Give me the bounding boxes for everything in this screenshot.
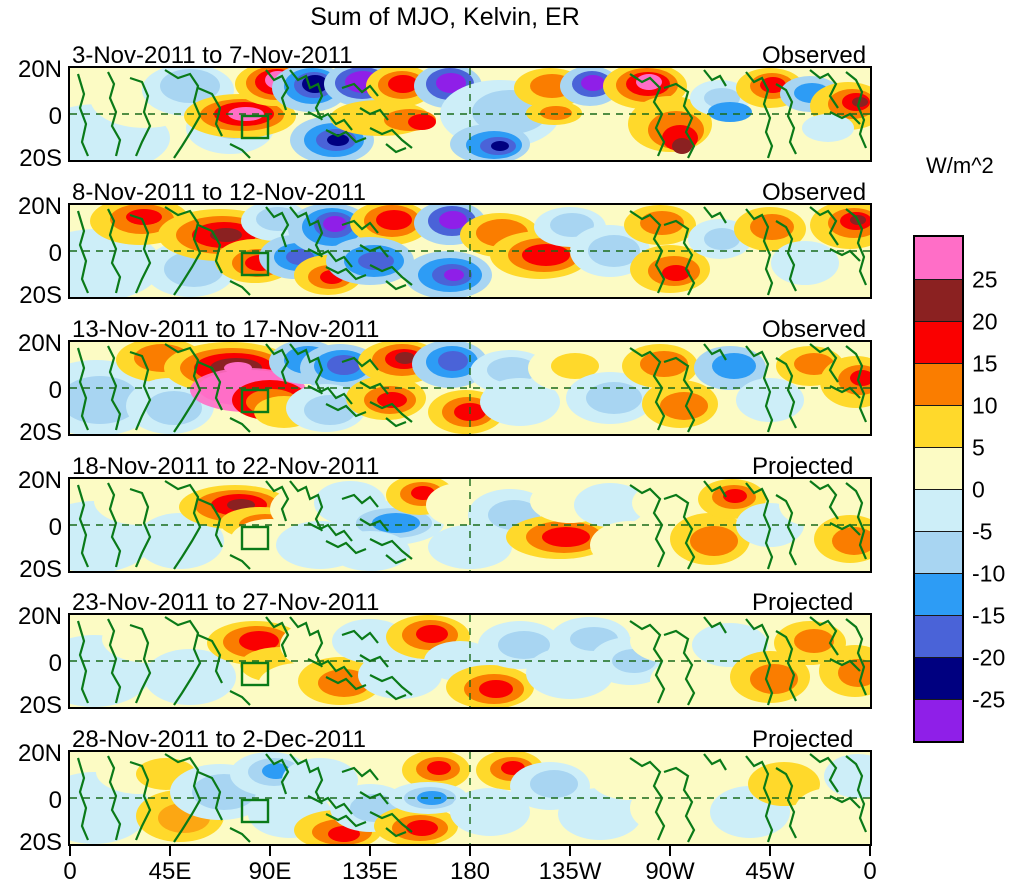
map-panel-4-lat-20n: 20N (0, 467, 62, 495)
colorbar-band-6[interactable] (915, 489, 962, 531)
colorbar-units-label: W/m^2 (926, 153, 994, 179)
map-panel-6[interactable] (68, 750, 872, 846)
map-panel-6-plot (70, 752, 870, 844)
colorbar-tick-5: 5 (972, 435, 985, 462)
x-tick-label-45w: 45W (745, 858, 794, 886)
colorbar-band-5[interactable] (915, 447, 962, 489)
map-panel-3[interactable] (68, 340, 872, 436)
map-panel-5-date-range: 23-Nov-2011 to 27-Nov-2011 (72, 589, 379, 617)
map-panel-1-field (70, 68, 870, 160)
colorbar-band-9[interactable] (915, 615, 962, 657)
colorbar-band-3[interactable] (915, 363, 962, 405)
map-panel-4-lat-0: 0 (0, 514, 62, 542)
colorbar-tick-neg15: -15 (972, 603, 1005, 630)
map-panel-2-status: Observed (762, 179, 866, 207)
map-panel-2-plot (70, 205, 870, 297)
map-panel-2-field (70, 205, 870, 297)
x-tick-label-45e: 45E (149, 858, 192, 886)
colorbar-tick-25: 25 (972, 267, 998, 294)
colorbar-tick-0: 0 (972, 477, 985, 504)
colorbar-band-0[interactable] (915, 237, 962, 279)
colorbar-tick-neg5: -5 (972, 519, 992, 546)
map-panel-5-field (70, 615, 870, 707)
x-tick-label-90w: 90W (645, 858, 694, 886)
map-panel-6-lat-20s: 20S (0, 829, 62, 857)
colorbar-band-7[interactable] (915, 531, 962, 573)
map-panel-5-lat-20s: 20S (0, 692, 62, 720)
map-panel-6-lat-20n: 20N (0, 740, 62, 768)
colorbar[interactable] (913, 235, 964, 743)
colorbar-tick-10: 10 (972, 393, 998, 420)
map-panel-4-lat-20s: 20S (0, 556, 62, 584)
x-axis-ticks (68, 846, 872, 858)
map-panel-6-lat-0: 0 (0, 787, 62, 815)
map-panel-3-lat-20n: 20N (0, 330, 62, 358)
colorbar-band-10[interactable] (915, 657, 962, 699)
map-panel-4[interactable] (68, 477, 872, 573)
colorbar-band-4[interactable] (915, 405, 962, 447)
x-tick-label-135e: 135E (342, 858, 398, 886)
map-panel-4-plot (70, 479, 870, 571)
map-panel-6-date-range: 28-Nov-2011 to 2-Dec-2011 (72, 726, 366, 754)
map-panel-3-lat-0: 0 (0, 377, 62, 405)
map-panel-4-date-range: 18-Nov-2011 to 22-Nov-2011 (72, 453, 379, 481)
map-panel-5[interactable] (68, 613, 872, 709)
colorbar-tick-neg20: -20 (972, 645, 1005, 672)
x-tick-label-360: 0 (863, 858, 876, 886)
map-panel-3-status: Observed (762, 316, 866, 344)
colorbar-band-11[interactable] (915, 699, 962, 741)
map-panel-1-status: Observed (762, 42, 866, 70)
map-panel-3-lat-20s: 20S (0, 419, 62, 447)
figure-title: Sum of MJO, Kelvin, ER (0, 3, 890, 32)
map-panel-4-status: Projected (752, 453, 853, 481)
colorbar-band-2[interactable] (915, 321, 962, 363)
map-panel-1-lat-0: 0 (0, 103, 62, 131)
map-panel-1-lat-20n: 20N (0, 56, 62, 84)
map-panel-1-lat-20s: 20S (0, 145, 62, 173)
map-panel-3-plot (70, 342, 870, 434)
map-panel-5-status: Projected (752, 589, 853, 617)
map-panel-5-lat-20n: 20N (0, 603, 62, 631)
map-panel-3-field (70, 342, 870, 434)
map-panel-2-lat-20s: 20S (0, 282, 62, 310)
colorbar-tick-15: 15 (972, 351, 998, 378)
map-panel-4-field (70, 479, 870, 571)
map-panel-3-date-range: 13-Nov-2011 to 17-Nov-2011 (72, 316, 379, 344)
map-panel-6-status: Projected (752, 726, 853, 754)
map-panel-6-field (70, 752, 870, 844)
colorbar-tick-20: 20 (972, 309, 998, 336)
x-tick-label-180: 180 (450, 858, 490, 886)
map-panel-1[interactable] (68, 66, 872, 162)
map-panel-1-date-range: 3-Nov-2011 to 7-Nov-2011 (72, 42, 353, 70)
map-panel-1-plot (70, 68, 870, 160)
colorbar-tick-neg25: -25 (972, 687, 1005, 714)
x-tick-label-90e: 90E (249, 858, 292, 886)
x-tick-label-0: 0 (63, 858, 76, 886)
colorbar-band-8[interactable] (915, 573, 962, 615)
x-tick-label-135w: 135W (539, 858, 602, 886)
figure-container: Sum of MJO, Kelvin, ER (0, 0, 1021, 889)
map-panel-2-date-range: 8-Nov-2011 to 12-Nov-2011 (72, 179, 366, 207)
colorbar-band-1[interactable] (915, 279, 962, 321)
map-panel-2-lat-0: 0 (0, 240, 62, 268)
map-panel-2-lat-20n: 20N (0, 193, 62, 221)
colorbar-tick-neg10: -10 (972, 561, 1005, 588)
map-panel-2[interactable] (68, 203, 872, 299)
map-panel-5-lat-0: 0 (0, 650, 62, 678)
map-panel-5-plot (70, 615, 870, 707)
